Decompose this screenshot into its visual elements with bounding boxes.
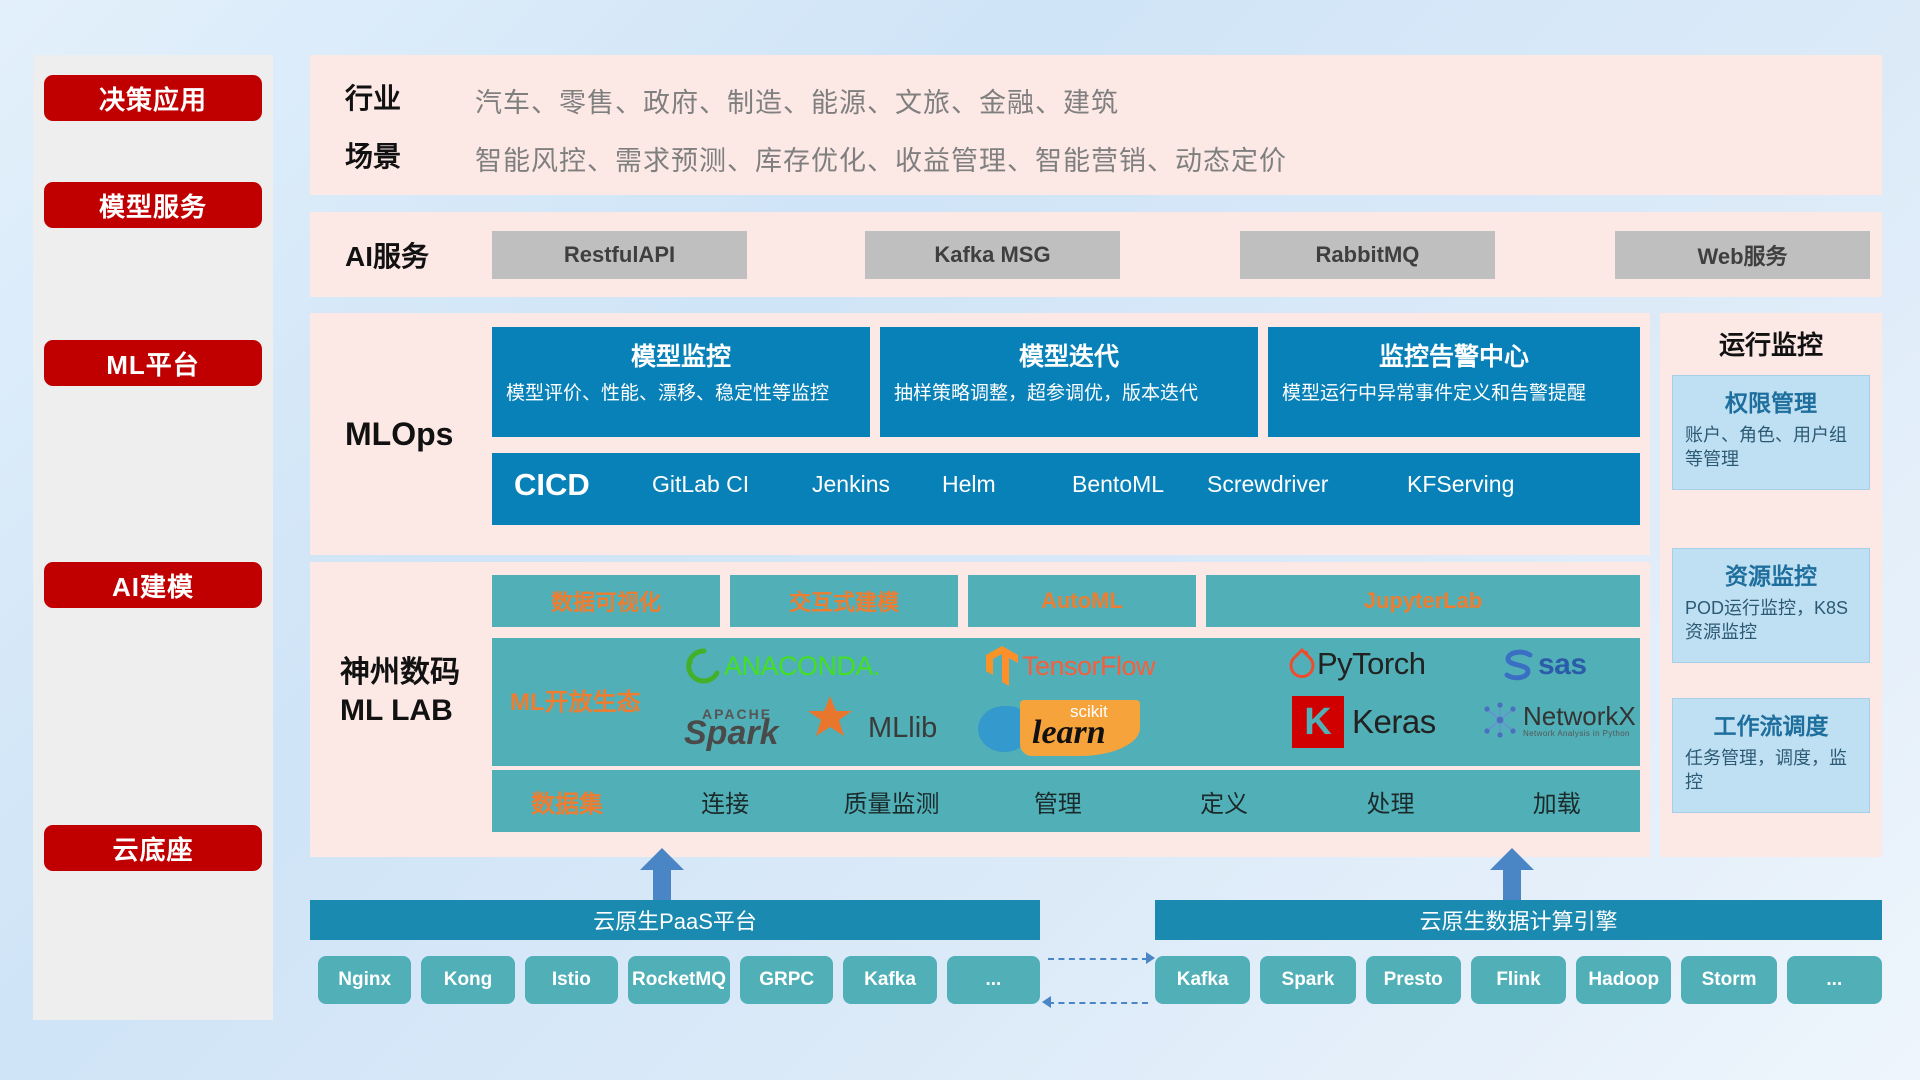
mon-card-title: 资源监控	[1685, 557, 1857, 591]
ai-chip-web-service[interactable]: Web服务	[1615, 231, 1870, 279]
ai-chip-kafka-msg[interactable]: Kafka MSG	[865, 231, 1120, 279]
card-title: 监控告警中心	[1282, 337, 1626, 373]
lab-tab-jupyterlab[interactable]: JupyterLab	[1206, 575, 1640, 627]
chip-more-left[interactable]: ...	[947, 956, 1040, 1004]
mlops-card-model-monitoring[interactable]: 模型监控 模型评价、性能、漂移、稳定性等监控	[492, 327, 870, 437]
card-desc: 抽样策略调整，超参调优，版本迭代	[894, 381, 1244, 407]
scikit-learn-logo: scikit learn	[978, 698, 1178, 758]
networkx-logo: NetworkX Network Analysis in Python	[1480, 700, 1636, 740]
decision-application-panel: 行业 汽车、零售、政府、制造、能源、文旅、金融、建筑 场景 智能风控、需求预测、…	[310, 55, 1882, 195]
chip-flink[interactable]: Flink	[1471, 956, 1566, 1004]
card-title: 模型监控	[506, 337, 856, 373]
ml-lab-panel: 神州数码 ML LAB 数据可视化 交互式建模 AutoML JupyterLa…	[310, 562, 1650, 857]
paas-chip-strip: Nginx Kong Istio RocketMQ GRPC Kafka ...	[318, 950, 1040, 1010]
mlops-card-alert-center[interactable]: 监控告警中心 模型运行中异常事件定义和告警提醒	[1268, 327, 1640, 437]
spark-wordmark: Spark	[684, 714, 779, 753]
mon-card-title: 工作流调度	[1685, 707, 1857, 741]
ai-chip-rabbitmq[interactable]: RabbitMQ	[1240, 231, 1495, 279]
scene-value: 智能风控、需求预测、库存优化、收益管理、智能营销、动态定价	[475, 139, 1287, 178]
mon-card-resource[interactable]: 资源监控 POD运行监控，K8S资源监控	[1672, 548, 1870, 663]
anaconda-logo: ANACONDA.	[684, 646, 880, 686]
ai-service-label: AI服务	[345, 212, 429, 297]
pytorch-wordmark: PyTorch	[1317, 646, 1425, 682]
cicd-bar: CICD GitLab CI Jenkins Helm BentoML Scre…	[492, 453, 1640, 525]
mon-card-workflow[interactable]: 工作流调度 任务管理，调度，监控	[1672, 698, 1870, 813]
dataset-item-define[interactable]: 定义	[1141, 784, 1307, 819]
lab-tab-data-visualization[interactable]: 数据可视化	[492, 575, 720, 627]
card-desc: 模型评价、性能、漂移、稳定性等监控	[506, 381, 856, 407]
rail-item-model-service[interactable]: 模型服务	[44, 182, 262, 228]
runtime-monitoring-title: 运行监控	[1660, 325, 1882, 362]
ml-lab-label-line1: 神州数码	[340, 654, 490, 692]
data-engine-chip-strip: Kafka Spark Presto Flink Hadoop Storm ..…	[1155, 950, 1882, 1010]
chip-grpc[interactable]: GRPC	[740, 956, 833, 1004]
pytorch-logo: PyTorch	[1287, 644, 1425, 684]
lab-tab-interactive-modeling[interactable]: 交互式建模	[730, 575, 958, 627]
ml-ecosystem-label: ML开放生态	[510, 682, 641, 717]
connector-dashed-left	[1048, 1002, 1148, 1004]
chip-istio[interactable]: Istio	[525, 956, 618, 1004]
cicd-item-screwdriver[interactable]: Screwdriver	[1207, 471, 1307, 497]
sas-mark	[1502, 648, 1538, 682]
cloud-data-engine-bar[interactable]: 云原生数据计算引擎	[1155, 900, 1882, 940]
lab-tab-automl[interactable]: AutoML	[968, 575, 1196, 627]
arrow-up-paas-icon	[640, 848, 684, 902]
cicd-item-kfserving[interactable]: KFServing	[1407, 471, 1507, 497]
arrow-up-data-engine-icon	[1490, 848, 1534, 902]
rail-item-ai-modeling[interactable]: AI建模	[44, 562, 262, 608]
chip-more-right[interactable]: ...	[1787, 956, 1882, 1004]
rail-item-cloud-base[interactable]: 云底座	[44, 825, 262, 871]
runtime-monitoring-panel: 运行监控 权限管理 账户、角色、用户组等管理 资源监控 POD运行监控，K8S资…	[1660, 313, 1882, 857]
spark-star-icon	[802, 694, 854, 742]
card-title: 模型迭代	[894, 337, 1244, 373]
networkx-subtitle: Network Analysis in Python	[1523, 729, 1636, 738]
mlops-label: MLOps	[345, 313, 453, 555]
dataset-label: 数据集	[492, 784, 642, 819]
keras-mark: K	[1292, 696, 1344, 748]
chip-kafka-right[interactable]: Kafka	[1155, 956, 1250, 1004]
dataset-item-quality[interactable]: 质量监测	[808, 784, 974, 819]
dataset-item-connect[interactable]: 连接	[642, 784, 808, 819]
keras-logo: K Keras	[1292, 696, 1436, 748]
mlops-panel: MLOps 模型监控 模型评价、性能、漂移、稳定性等监控 模型迭代 抽样策略调整…	[310, 313, 1650, 555]
ai-service-panel: AI服务 RestfulAPI Kafka MSG RabbitMQ Web服务	[310, 212, 1882, 297]
tensorflow-logo: TensorFlow	[982, 644, 1155, 688]
dataset-item-manage[interactable]: 管理	[975, 784, 1141, 819]
scene-label: 场景	[345, 135, 401, 175]
mon-card-desc: 账户、角色、用户组等管理	[1685, 423, 1857, 472]
learn-word: learn	[1032, 714, 1106, 752]
cicd-item-bentoml[interactable]: BentoML	[1072, 471, 1172, 497]
keras-wordmark: Keras	[1352, 703, 1436, 741]
chip-nginx[interactable]: Nginx	[318, 956, 411, 1004]
dataset-bar: 数据集 连接 质量监测 管理 定义 处理 加载	[492, 770, 1640, 832]
networkx-wordmark: NetworkX	[1523, 703, 1636, 729]
rail-item-decision[interactable]: 决策应用	[44, 75, 262, 121]
networkx-mark	[1480, 700, 1520, 740]
chip-storm[interactable]: Storm	[1681, 956, 1776, 1004]
cicd-item-helm[interactable]: Helm	[942, 471, 1042, 497]
mon-card-desc: 任务管理，调度，监控	[1685, 746, 1857, 795]
connector-arrow-right-icon	[1146, 952, 1155, 964]
sas-wordmark: sas	[1538, 648, 1587, 682]
anaconda-wordmark: ANACONDA.	[724, 651, 880, 682]
chip-hadoop[interactable]: Hadoop	[1576, 956, 1671, 1004]
tensorflow-wordmark: TensorFlow	[1022, 651, 1155, 682]
chip-spark[interactable]: Spark	[1260, 956, 1355, 1004]
card-desc: 模型运行中异常事件定义和告警提醒	[1282, 381, 1626, 407]
cicd-item-gitlab-ci[interactable]: GitLab CI	[652, 471, 752, 497]
industry-label: 行业	[345, 77, 401, 117]
chip-presto[interactable]: Presto	[1366, 956, 1461, 1004]
mllib-wordmark: MLlib	[868, 712, 937, 745]
diagram-canvas: 决策应用 模型服务 ML平台 AI建模 云底座 行业 汽车、零售、政府、制造、能…	[0, 0, 1920, 1080]
chip-kafka[interactable]: Kafka	[843, 956, 936, 1004]
industry-value: 汽车、零售、政府、制造、能源、文旅、金融、建筑	[475, 81, 1119, 120]
ml-ecosystem-bar: ML开放生态 ANACONDA. TensorFlow	[492, 638, 1640, 766]
cloud-paas-bar[interactable]: 云原生PaaS平台	[310, 900, 1040, 940]
connector-dashed-right	[1048, 958, 1148, 960]
layer-rail: 决策应用 模型服务 ML平台 AI建模 云底座	[33, 55, 273, 1020]
cicd-item-jenkins[interactable]: Jenkins	[812, 471, 912, 497]
pytorch-mark	[1287, 644, 1317, 684]
anaconda-mark	[684, 646, 724, 686]
mon-card-desc: POD运行监控，K8S资源监控	[1685, 596, 1857, 645]
chip-rocketmq[interactable]: RocketMQ	[628, 956, 730, 1004]
ai-chip-restfulapi[interactable]: RestfulAPI	[492, 231, 747, 279]
mlops-card-model-iteration[interactable]: 模型迭代 抽样策略调整，超参调优，版本迭代	[880, 327, 1258, 437]
ml-lab-label-line2: ML LAB	[340, 692, 490, 730]
spark-mllib-logo: APACHE Spark MLlib	[684, 700, 937, 756]
mon-card-title: 权限管理	[1685, 384, 1857, 418]
mon-card-permission[interactable]: 权限管理 账户、角色、用户组等管理	[1672, 375, 1870, 490]
dataset-item-process[interactable]: 处理	[1307, 784, 1473, 819]
sas-logo: sas	[1502, 648, 1587, 682]
dataset-item-load[interactable]: 加载	[1474, 784, 1640, 819]
chip-kong[interactable]: Kong	[421, 956, 514, 1004]
tensorflow-mark	[982, 644, 1022, 688]
connector-arrow-left-icon	[1042, 996, 1051, 1008]
ml-lab-label: 神州数码 ML LAB	[340, 654, 490, 729]
rail-item-ml-platform[interactable]: ML平台	[44, 340, 262, 386]
cicd-title: CICD	[514, 467, 590, 503]
